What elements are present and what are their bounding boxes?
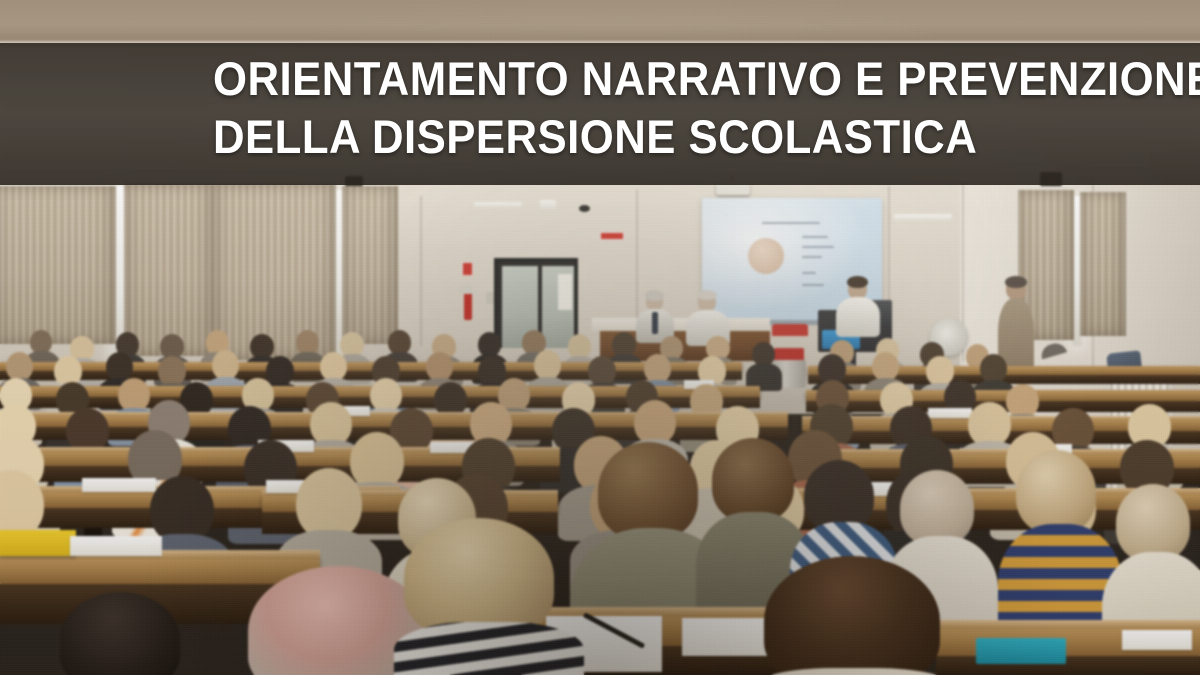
paper-sheet <box>1122 630 1192 650</box>
dark-hair-head <box>764 556 940 675</box>
event-banner: ORIENTAMENTO NARRATIVO E PREVENZIONE DEL… <box>0 0 1200 675</box>
paper-sheet <box>70 536 162 556</box>
head <box>6 352 33 381</box>
striped-shirt-body <box>394 622 584 675</box>
head <box>158 356 186 386</box>
teal-notebook <box>976 638 1066 664</box>
page-title: ORIENTAMENTO NARRATIVO E PREVENZIONE DEL… <box>213 50 1200 166</box>
head <box>212 350 239 380</box>
paper-sheet <box>682 618 774 656</box>
desk-lip <box>936 620 1200 629</box>
head <box>926 356 954 386</box>
desk <box>806 390 1200 401</box>
head <box>872 352 899 381</box>
paper-sheet <box>928 408 972 418</box>
head <box>118 378 150 412</box>
curly-hair-head <box>598 442 698 540</box>
head <box>588 356 616 386</box>
curly-hair-head <box>712 438 794 522</box>
head <box>320 352 347 381</box>
yellow-folder <box>0 530 76 556</box>
head <box>1006 384 1039 418</box>
head <box>980 354 1007 383</box>
title-line-2: DELLA DISPERSIONE SCOLASTICA <box>213 108 1200 166</box>
head <box>1116 484 1190 562</box>
head <box>534 350 561 380</box>
head <box>644 354 671 383</box>
head <box>426 352 453 381</box>
paper-sheet <box>82 478 156 492</box>
head <box>1016 450 1096 534</box>
head <box>478 356 506 386</box>
head <box>370 378 402 412</box>
head <box>266 356 294 386</box>
blonde-hair-head <box>404 518 554 638</box>
foreground-desk <box>0 556 320 584</box>
head <box>900 470 974 546</box>
title-line-1: ORIENTAMENTO NARRATIVO E PREVENZIONE <box>213 50 1200 108</box>
head <box>106 352 133 381</box>
